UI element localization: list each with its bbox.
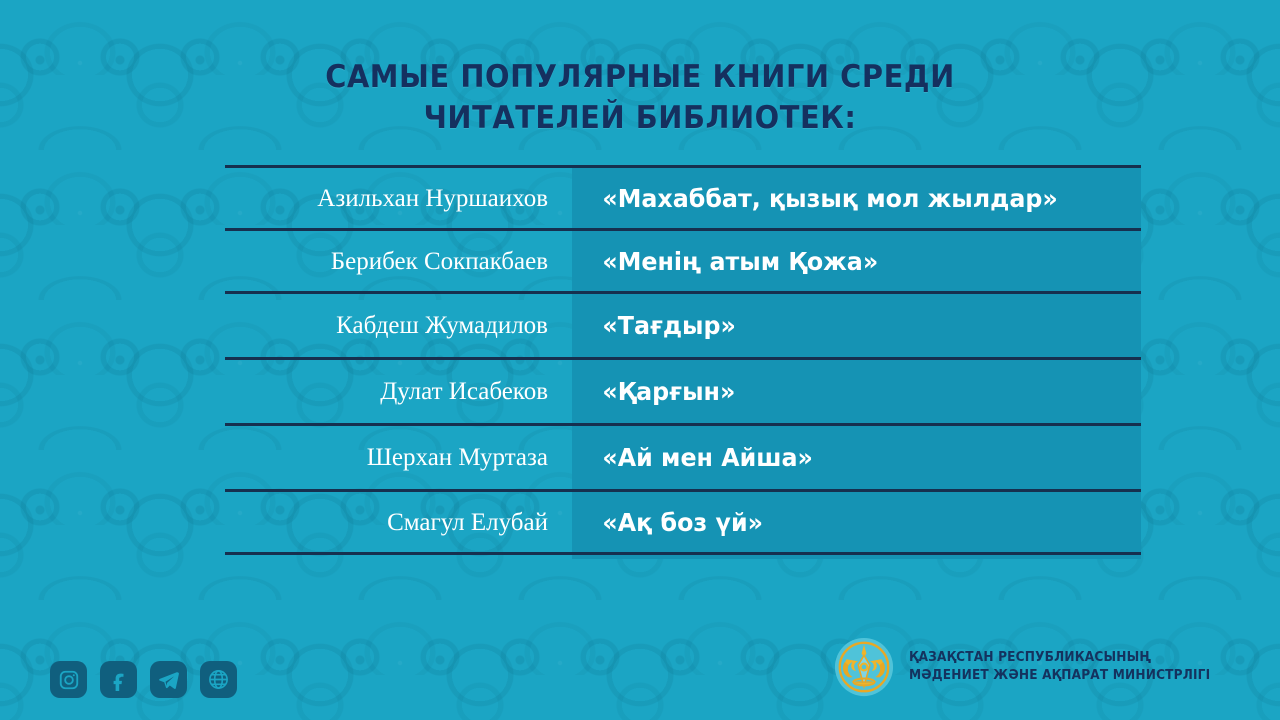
table-row: Шерхан Муртаза «Ай мен Айша» [225,423,1141,489]
table-row: Берибек Сокпакбаев «Менің атым Қожа» [225,228,1141,291]
book-title: «Ай мен Айша» [572,445,1113,470]
social-links [50,661,237,698]
author-name: Кабдеш Жумадилов [225,313,572,338]
ministry-name: ҚАЗАҚСТАН РЕСПУБЛИКАСЫНЫҢ МӘДЕНИЕТ ЖӘНЕ … [909,649,1210,685]
book-title: «Ақ боз үй» [572,510,1113,535]
kazakhstan-state-emblem [833,636,895,698]
table-row: Смагул Елубай «Ақ боз үй» [225,489,1141,555]
facebook-icon[interactable] [100,661,137,698]
book-title: «Махаббат, қызық мол жылдар» [572,186,1113,211]
page-title: САМЫЕ ПОПУЛЯРНЫЕ КНИГИ СРЕДИ ЧИТАТЕЛЕЙ Б… [45,57,1235,139]
author-name: Смагул Елубай [225,510,572,535]
author-name: Берибек Сокпакбаев [225,249,572,274]
website-globe-icon[interactable] [200,661,237,698]
book-title: «Қарғын» [572,379,1113,404]
books-table: Азильхан Нуршаихов «Махаббат, қызық мол … [225,165,1141,555]
page-title-line-2: ЧИТАТЕЛЕЙ БИБЛИОТЕК: [45,98,1235,139]
table-row: Кабдеш Жумадилов «Тағдыр» [225,291,1141,357]
author-name: Шерхан Муртаза [225,445,572,470]
telegram-icon[interactable] [150,661,187,698]
table-row: Азильхан Нуршаихов «Махаббат, қызық мол … [225,165,1141,228]
page-title-line-1: САМЫЕ ПОПУЛЯРНЫЕ КНИГИ СРЕДИ [45,57,1235,98]
slide-stage: САМЫЕ ПОПУЛЯРНЫЕ КНИГИ СРЕДИ ЧИТАТЕЛЕЙ Б… [0,0,1280,720]
book-title: «Менің атым Қожа» [572,249,1113,274]
author-name: Дулат Исабеков [225,379,572,404]
ministry-name-line-1: ҚАЗАҚСТАН РЕСПУБЛИКАСЫНЫҢ [909,649,1210,667]
author-name: Азильхан Нуршаихов [225,186,572,211]
table-row: Дулат Исабеков «Қарғын» [225,357,1141,423]
ministry-name-line-2: МӘДЕНИЕТ ЖӘНЕ АҚПАРАТ МИНИСТРЛІГІ [909,667,1210,685]
books-table-rows: Азильхан Нуршаихов «Махаббат, қызық мол … [225,165,1141,555]
instagram-icon[interactable] [50,661,87,698]
ministry-lockup: ҚАЗАҚСТАН РЕСПУБЛИКАСЫНЫҢ МӘДЕНИЕТ ЖӘНЕ … [833,636,1244,698]
book-title: «Тағдыр» [572,313,1113,338]
